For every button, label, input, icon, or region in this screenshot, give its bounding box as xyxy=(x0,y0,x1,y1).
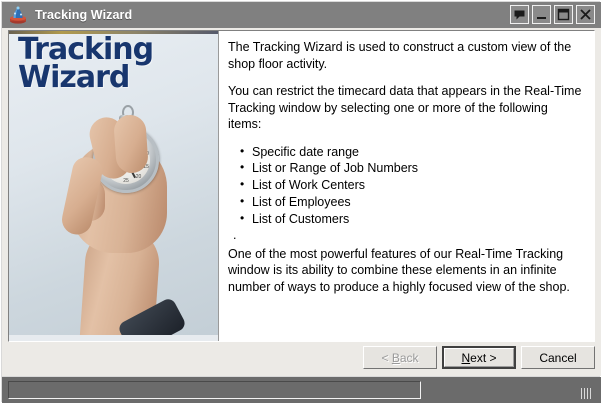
wizard-hat-icon xyxy=(9,6,27,24)
list-item: List of Work Centers xyxy=(252,177,584,194)
minimize-button[interactable] xyxy=(532,5,551,24)
title-bar[interactable]: Tracking Wizard xyxy=(2,2,601,28)
summary-paragraph: One of the most powerful features of our… xyxy=(228,246,584,296)
list-item: List of Employees xyxy=(252,194,584,211)
next-button[interactable]: Next > xyxy=(442,346,516,369)
banner-bottom-fade xyxy=(9,335,218,341)
next-button-label: Next > xyxy=(461,351,496,365)
list-item: List or Range of Job Numbers xyxy=(252,160,584,177)
resize-grip-icon[interactable] xyxy=(581,385,597,399)
intro-paragraph: The Tracking Wizard is used to construct… xyxy=(228,39,584,72)
list-item: List of Customers xyxy=(252,211,584,228)
maximize-button[interactable] xyxy=(554,5,573,24)
back-button[interactable]: < Back xyxy=(363,346,437,369)
wizard-button-row: < Back Next > Cancel xyxy=(2,346,601,376)
dial-number: 25 xyxy=(123,178,129,184)
window-controls xyxy=(510,5,595,24)
wizard-window: Tracking Wizard xyxy=(0,0,601,403)
help-button[interactable] xyxy=(510,5,529,24)
cancel-button[interactable]: Cancel xyxy=(521,346,595,369)
client-area: 60 5 10 15 20 25 30 35 40 45 xyxy=(2,28,601,376)
middle-finger-shape xyxy=(113,114,149,174)
restrict-paragraph: You can restrict the timecard data that … xyxy=(228,83,584,133)
cancel-button-label: Cancel xyxy=(539,351,576,365)
wizard-banner-image: 60 5 10 15 20 25 30 35 40 45 xyxy=(9,31,219,341)
content-frame: 60 5 10 15 20 25 30 35 40 45 xyxy=(8,30,595,342)
stray-mark: . xyxy=(233,228,584,242)
list-item: Specific date range xyxy=(252,144,584,161)
status-bar xyxy=(2,377,601,403)
status-message xyxy=(8,381,421,399)
window-title: Tracking Wizard xyxy=(35,8,132,22)
banner-title: Tracking Wizard xyxy=(18,36,153,91)
dial-number: 20 xyxy=(136,174,142,180)
back-button-label: < Back xyxy=(381,351,418,365)
wizard-text-panel: The Tracking Wizard is used to construct… xyxy=(219,31,594,341)
close-button[interactable] xyxy=(576,5,595,24)
filter-options-list: Specific date range List or Range of Job… xyxy=(228,144,584,228)
next-button-inner: Next > xyxy=(444,348,514,367)
